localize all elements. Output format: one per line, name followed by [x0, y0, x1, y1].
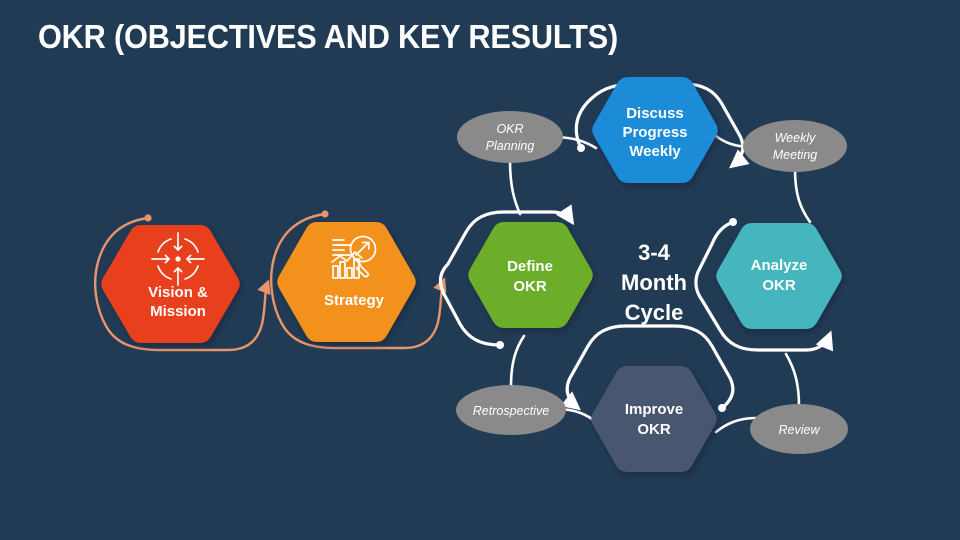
artifact-review[interactable]: Review — [750, 404, 848, 454]
stage-define-okr[interactable]: Define OKR — [441, 212, 593, 349]
connector-retrospective-to-define — [511, 336, 524, 386]
define-okr-label-line1: Define — [507, 258, 553, 275]
define-okr-arrow-dot — [496, 341, 504, 349]
analyze-okr-arrow-dot — [729, 218, 737, 226]
vision-mission-label-line2: Mission — [150, 303, 206, 320]
okr-planning-label-line2: Planning — [486, 139, 535, 153]
okr-planning-label-line1: OKR — [496, 122, 523, 136]
slide-canvas: OKR (OBJECTIVES AND KEY RESULTS) — [0, 0, 960, 540]
connector-review-to-improve — [716, 418, 756, 432]
artifact-okr-planning[interactable]: OKR Planning — [457, 111, 563, 163]
stage-improve-okr[interactable]: Improve OKR — [567, 326, 733, 472]
artifact-retrospective[interactable]: Retrospective — [456, 385, 566, 435]
analyze-okr-label-line1: Analyze — [751, 257, 808, 274]
vision-mission-label-line1: Vision & — [148, 284, 208, 301]
cycle-center-label: 3-4 Month Cycle — [621, 240, 687, 325]
improve-okr-label-line2: OKR — [637, 421, 671, 438]
cycle-label-line3: Cycle — [625, 300, 684, 325]
retrospective-label-line1: Retrospective — [473, 404, 549, 418]
step-strategy[interactable]: Strategy — [271, 210, 444, 348]
connector-okr-planning-to-define — [510, 160, 520, 214]
artifact-weekly-meeting[interactable]: Weekly Meeting — [743, 120, 847, 172]
weekly-meeting-ellipse[interactable] — [743, 120, 847, 172]
stage-discuss-progress-weekly[interactable]: Discuss Progress Weekly — [576, 77, 743, 183]
okr-planning-ellipse[interactable] — [457, 111, 563, 163]
connector-review-to-analyze — [786, 354, 799, 406]
review-label-line1: Review — [779, 423, 821, 437]
analyze-okr-hexagon[interactable] — [716, 223, 842, 329]
improve-okr-arrow-dot — [718, 404, 726, 412]
step-vision-mission[interactable]: Vision & Mission — [95, 214, 268, 350]
okr-diagram: Vision & Mission — [0, 0, 960, 540]
define-okr-label-line2: OKR — [513, 278, 547, 295]
weekly-meeting-label-line1: Weekly — [775, 131, 817, 145]
improve-okr-label-line1: Improve — [625, 401, 683, 418]
strategy-label-line1: Strategy — [324, 292, 385, 309]
connector-weekly-meeting-to-analyze — [795, 169, 810, 222]
discuss-progress-weekly-label-line2: Progress — [622, 124, 687, 141]
strategy-outline-dot — [321, 210, 328, 217]
analyze-okr-label-line2: OKR — [762, 277, 796, 294]
discuss-progress-weekly-label-line1: Discuss — [626, 105, 684, 122]
discuss-progress-weekly-label-line3: Weekly — [629, 143, 681, 160]
weekly-meeting-label-line2: Meeting — [773, 148, 818, 162]
define-okr-hexagon[interactable] — [468, 222, 593, 328]
improve-okr-hexagon[interactable] — [591, 366, 717, 472]
cycle-label-line2: Month — [621, 270, 687, 295]
stage-analyze-okr[interactable]: Analyze OKR — [696, 218, 842, 350]
vision-mission-outline-dot — [144, 214, 151, 221]
discuss-progress-weekly-arrow-dot — [577, 144, 585, 152]
cycle-label-line1: 3-4 — [638, 240, 671, 265]
strategy-hexagon[interactable] — [277, 222, 416, 342]
